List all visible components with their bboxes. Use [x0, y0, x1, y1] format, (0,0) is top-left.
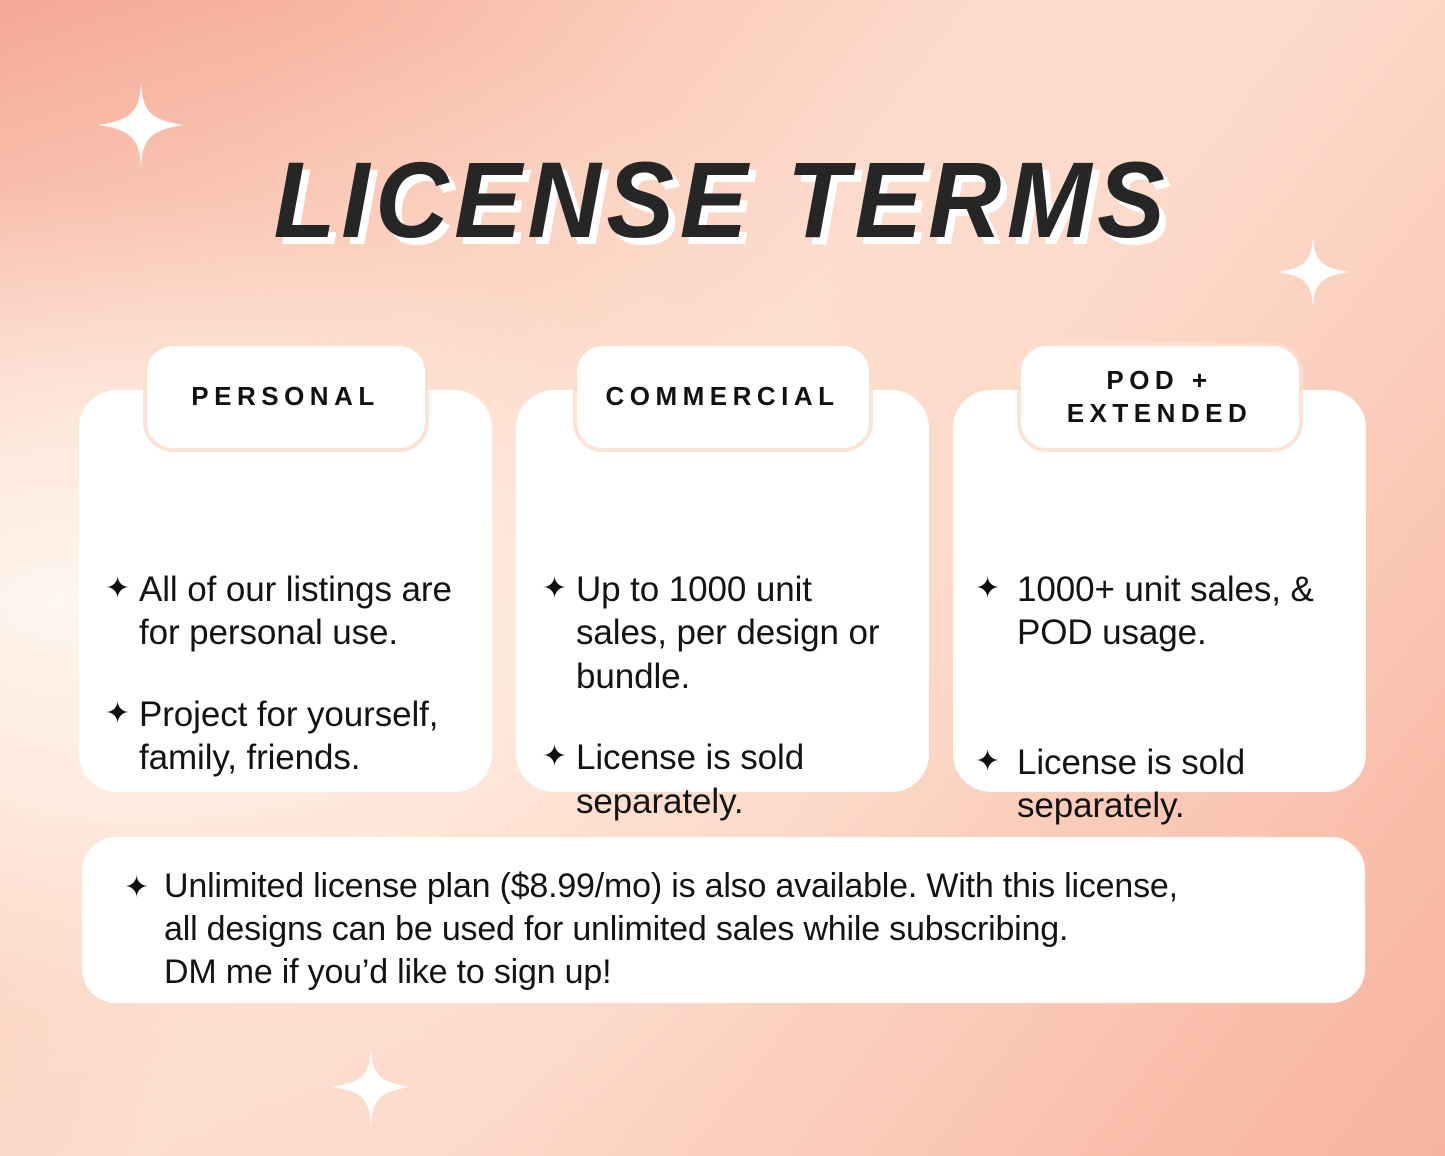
card-bullet-list: ✦ 1000+ unit sales, & POD usage. ✦ Licen… — [975, 568, 1348, 828]
card-body: ✦ Up to 1000 unit sales, per design or b… — [516, 390, 929, 792]
star-bullet-icon: ✦ — [975, 574, 1017, 604]
license-card-commercial: ✦ Up to 1000 unit sales, per design or b… — [516, 346, 929, 792]
list-item-text: 1000+ unit sales, & POD usage. — [1017, 568, 1348, 655]
unlimited-plan-banner: ✦ Unlimited license plan ($8.99/mo) is a… — [82, 837, 1365, 1003]
banner-text: Unlimited license plan ($8.99/mo) is als… — [164, 865, 1331, 993]
star-bullet-icon: ✦ — [124, 873, 164, 903]
card-tab-personal[interactable]: PERSONAL — [147, 346, 425, 448]
list-item: ✦ License is sold separately. — [542, 736, 911, 823]
banner-content: ✦ Unlimited license plan ($8.99/mo) is a… — [124, 865, 1331, 993]
card-bullet-list: ✦ Up to 1000 unit sales, per design or b… — [542, 568, 911, 823]
star-bullet-icon: ✦ — [105, 574, 139, 604]
list-item-text: All of our listings are for personal use… — [139, 568, 474, 655]
license-card-personal: ✦ All of our listings are for personal u… — [79, 346, 492, 792]
license-terms-graphic: LICENSE TERMS ✦ All of our listings are … — [0, 0, 1445, 1156]
card-tab-label: POD + EXTENDED — [1067, 364, 1253, 431]
list-item: ✦ Up to 1000 unit sales, per design or b… — [542, 568, 911, 698]
license-card-row: ✦ All of our listings are for personal u… — [79, 346, 1366, 792]
page-title: LICENSE TERMS — [274, 146, 1171, 254]
card-tab-label: PERSONAL — [191, 380, 379, 413]
star-bullet-icon: ✦ — [542, 574, 576, 604]
star-bullet-icon: ✦ — [105, 699, 139, 729]
list-item-text: Up to 1000 unit sales, per design or bun… — [576, 568, 911, 698]
list-item: ✦ 1000+ unit sales, & POD usage. — [975, 568, 1348, 655]
card-tab-pod-extended[interactable]: POD + EXTENDED — [1021, 346, 1299, 448]
list-item: ✦ Project for yourself, family, friends. — [105, 693, 474, 780]
list-item: ✦ All of our listings are for personal u… — [105, 568, 474, 655]
list-item-text: License is sold separately. — [1017, 741, 1348, 828]
star-bullet-icon: ✦ — [542, 742, 576, 772]
list-item: ✦ License is sold separately. — [975, 741, 1348, 828]
list-item-text: Project for yourself, family, friends. — [139, 693, 474, 780]
list-item-text: License is sold separately. — [576, 736, 911, 823]
page-title-container: LICENSE TERMS — [0, 146, 1445, 254]
star-bullet-icon: ✦ — [975, 747, 1017, 777]
sparkle-bottom-left-icon — [332, 1048, 410, 1126]
card-body: ✦ 1000+ unit sales, & POD usage. ✦ Licen… — [953, 390, 1366, 792]
card-tab-commercial[interactable]: COMMERCIAL — [577, 346, 869, 448]
card-body: ✦ All of our listings are for personal u… — [79, 390, 492, 792]
license-card-pod-extended: ✦ 1000+ unit sales, & POD usage. ✦ Licen… — [953, 346, 1366, 792]
card-tab-label: COMMERCIAL — [605, 380, 839, 413]
card-bullet-list: ✦ All of our listings are for personal u… — [105, 568, 474, 780]
